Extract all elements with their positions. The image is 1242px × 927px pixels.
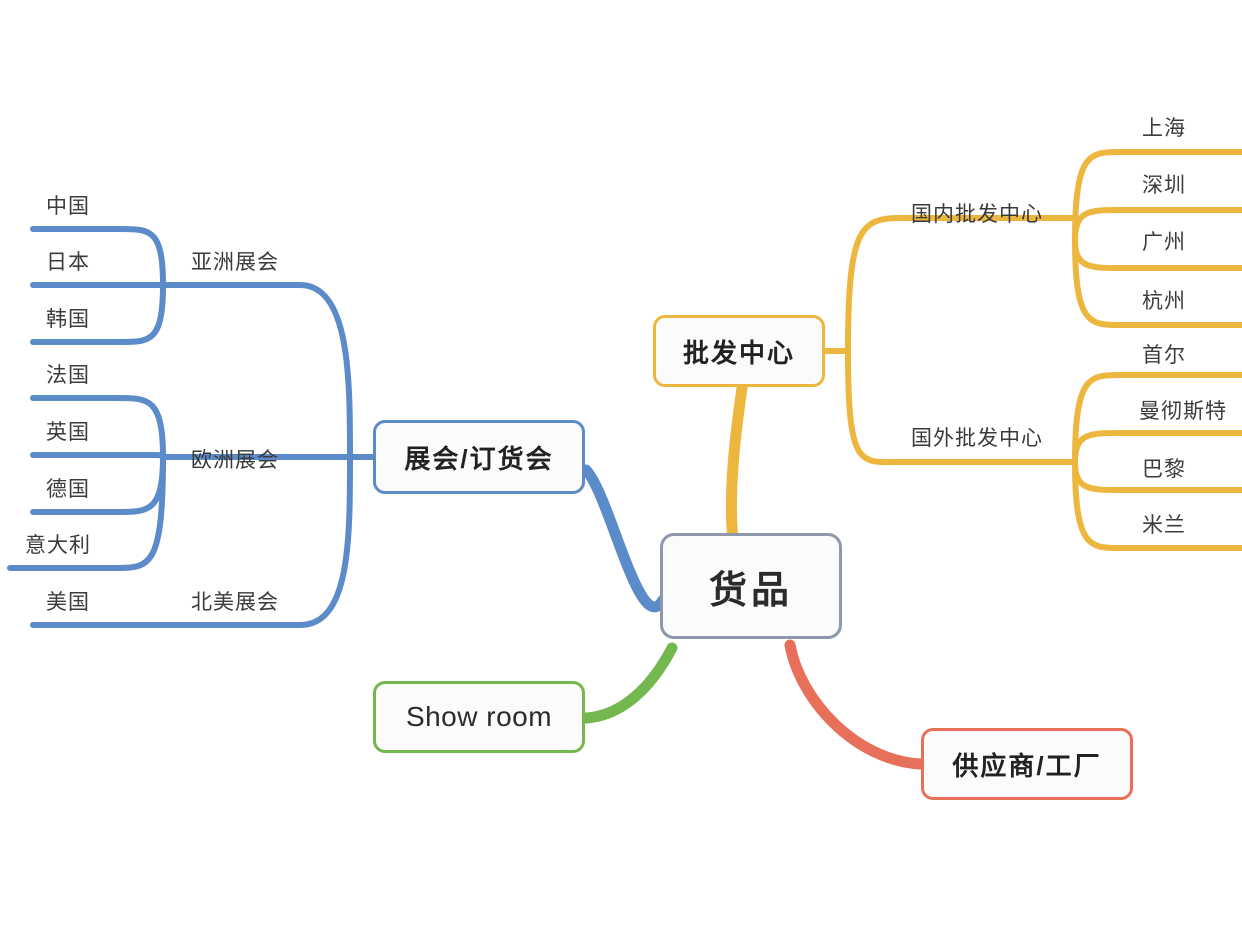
- leaf-label-seoul[interactable]: 首尔: [1142, 345, 1186, 366]
- root-node-label: 货品: [709, 559, 793, 614]
- branch-node-showroom-label: Show room: [406, 701, 552, 733]
- connector-root-to-supplier: [790, 645, 920, 764]
- subbranch-label-domestic[interactable]: 国内批发中心: [911, 204, 1043, 225]
- leaf-label-manchester[interactable]: 曼彻斯特: [1139, 401, 1227, 422]
- leaf-label-italy[interactable]: 意大利: [25, 535, 91, 556]
- leaf-label-guangzhou[interactable]: 广州: [1142, 232, 1186, 253]
- connector-root-to-wholesale: [731, 388, 742, 540]
- leaf-label-shanghai[interactable]: 上海: [1142, 118, 1186, 139]
- mindmap-canvas: 货品 展会/订货会 批发中心 Show room 供应商/工厂 亚洲展会 欧洲展…: [0, 0, 1242, 927]
- leaf-label-korea[interactable]: 韩国: [46, 309, 90, 330]
- leaf-label-china[interactable]: 中国: [46, 196, 90, 217]
- leaf-label-germany[interactable]: 德国: [46, 479, 90, 500]
- leaf-label-paris[interactable]: 巴黎: [1142, 459, 1186, 480]
- branch-node-wholesale[interactable]: 批发中心: [653, 315, 825, 387]
- leaf-label-france[interactable]: 法国: [46, 365, 90, 386]
- branch-node-exhibition-label: 展会/订货会: [404, 439, 553, 476]
- leaf-label-uk[interactable]: 英国: [46, 422, 90, 443]
- branch-node-exhibition[interactable]: 展会/订货会: [373, 420, 585, 494]
- branch-node-wholesale-label: 批发中心: [683, 333, 795, 370]
- subbranch-label-europe[interactable]: 欧洲展会: [191, 450, 279, 471]
- branch-node-supplier[interactable]: 供应商/工厂: [921, 728, 1133, 800]
- leaf-label-hangzhou[interactable]: 杭州: [1142, 291, 1186, 312]
- connector-root-to-exhibition: [586, 470, 663, 607]
- branch-node-supplier-label: 供应商/工厂: [952, 746, 1101, 783]
- leafline-uk: [33, 455, 163, 457]
- leaf-label-milan[interactable]: 米兰: [1142, 515, 1186, 536]
- connector-root-to-showroom: [586, 648, 672, 718]
- subbranch-label-namerica[interactable]: 北美展会: [191, 592, 279, 613]
- leaf-label-japan[interactable]: 日本: [46, 252, 90, 273]
- leaf-label-shenzhen[interactable]: 深圳: [1142, 175, 1186, 196]
- leaf-label-usa[interactable]: 美国: [46, 592, 90, 613]
- subbranch-label-asia[interactable]: 亚洲展会: [191, 252, 279, 273]
- branch-node-showroom[interactable]: Show room: [373, 681, 585, 753]
- connector-wholesale-to-domestic: [848, 218, 1075, 351]
- connector-exhibition-to-asia: [163, 285, 350, 457]
- subbranch-label-overseas[interactable]: 国外批发中心: [911, 428, 1043, 449]
- root-node[interactable]: 货品: [660, 533, 842, 639]
